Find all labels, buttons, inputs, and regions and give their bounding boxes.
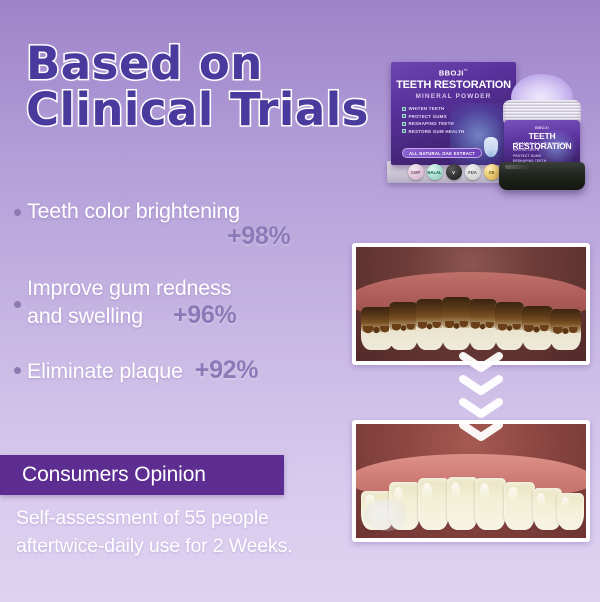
tooth-shine bbox=[422, 483, 431, 501]
consumers-opinion-label: Consumers Opinion bbox=[0, 463, 206, 487]
box-feature-list: ✓ WHITEN TEETH ✓ PROTECT GUMS ✓ RESHAPIN… bbox=[402, 106, 464, 136]
check-icon: ✓ bbox=[402, 107, 406, 111]
before-mouth-image bbox=[356, 247, 586, 361]
benefits-list: Teeth color brightening +98% Improve gum… bbox=[8, 198, 338, 387]
halal-badge-icon: HALAL bbox=[427, 164, 443, 180]
headline-line-1: Based on bbox=[26, 42, 369, 86]
benefit-second-line: and swelling +96% bbox=[27, 301, 338, 330]
tooth bbox=[389, 302, 418, 349]
fda-badge-icon: FDA bbox=[465, 164, 481, 180]
benefit-percent: +96% bbox=[173, 301, 236, 330]
tartar-deposit bbox=[389, 302, 418, 329]
jar-cap bbox=[499, 162, 585, 190]
tooth bbox=[416, 299, 445, 350]
product-image: BBOJI™ TEETH RESTORATION MINERAL POWDER … bbox=[383, 52, 593, 197]
check-icon: ✓ bbox=[402, 122, 406, 126]
tartar-deposit bbox=[522, 306, 553, 331]
teeth-row bbox=[361, 293, 582, 352]
box-feature-label: RESTORE GUM HEALTH bbox=[409, 129, 465, 134]
tooth-shine bbox=[537, 493, 546, 507]
box-brand-name: BBOJI bbox=[439, 69, 464, 78]
jar-feature-label: WHITEN TEETH bbox=[513, 148, 554, 152]
tartar-deposit bbox=[442, 297, 471, 327]
benefit-label-line2: and swelling bbox=[27, 303, 143, 329]
benefit-inline-row: Eliminate plaque +92% bbox=[27, 356, 338, 385]
headline: Based on Clinical Trials bbox=[26, 42, 369, 131]
benefit-item-3: Eliminate plaque +92% bbox=[8, 356, 338, 385]
tartar-deposit bbox=[416, 299, 445, 329]
box-feature-item: ✓ PROTECT GUMS bbox=[402, 114, 464, 119]
advertisement-canvas: Based on Clinical Trials BBOJI™ TEETH RE… bbox=[0, 0, 600, 602]
tartar-deposit bbox=[550, 309, 581, 332]
chevron-down-icon bbox=[458, 375, 504, 397]
bullet-dot-icon bbox=[14, 209, 21, 216]
tooth bbox=[550, 309, 581, 349]
tooth bbox=[469, 299, 498, 350]
bullet-dot-icon bbox=[14, 301, 21, 308]
chevron-down-icon bbox=[458, 352, 504, 374]
benefit-percent: +98% bbox=[227, 222, 290, 250]
trademark-symbol: ™ bbox=[464, 68, 468, 73]
box-feature-item: ✓ RESHAPING TEETH bbox=[402, 121, 464, 126]
jar-label: BBOJI TEETH RESTORATION MINERAL POWDER W… bbox=[504, 120, 580, 166]
bullet-dot-icon bbox=[14, 367, 21, 374]
before-photo bbox=[352, 243, 590, 365]
headline-line-2: Clinical Trials bbox=[26, 88, 369, 132]
gmp-badge-icon: GMP bbox=[408, 164, 424, 180]
chevron-down-icon bbox=[458, 421, 504, 443]
tartar-deposit bbox=[469, 299, 498, 329]
check-icon: ✓ bbox=[402, 114, 406, 118]
footer-disclaimer: Self-assessment of 55 people aftertwice-… bbox=[16, 505, 346, 560]
tooth bbox=[447, 477, 478, 530]
tooth bbox=[418, 478, 449, 530]
tooth bbox=[504, 482, 535, 529]
tooth-shine bbox=[561, 497, 569, 509]
benefit-item-2: Improve gum redness and swelling +96% bbox=[8, 275, 338, 330]
jar-feature-label: PROTECT GUMS bbox=[513, 154, 554, 158]
chevron-down-icon bbox=[458, 398, 504, 420]
tooth-shine bbox=[480, 483, 489, 501]
tartar-deposit bbox=[495, 302, 524, 329]
box-feature-label: PROTECT GUMS bbox=[409, 114, 447, 119]
tooth-shine bbox=[508, 487, 517, 503]
tooth bbox=[475, 478, 506, 530]
transition-arrows bbox=[444, 352, 518, 434]
benefit-label-line1: Improve gum redness bbox=[27, 275, 338, 301]
consumers-opinion-banner: Consumers Opinion bbox=[0, 455, 284, 495]
box-feature-item: ✓ WHITEN TEETH bbox=[402, 106, 464, 111]
footer-line-2: aftertwice-daily use for 2 Weeks. bbox=[16, 533, 346, 561]
benefit-item-1: Teeth color brightening +98% bbox=[8, 198, 338, 251]
tooth bbox=[442, 297, 471, 349]
box-feature-label: WHITEN TEETH bbox=[409, 106, 445, 111]
box-feature-item: ✓ RESTORE GUM HEALTH bbox=[402, 129, 464, 134]
benefit-label: Eliminate plaque bbox=[27, 358, 183, 384]
natural-extract-badge: ALL NATURAL OAK EXTRACT bbox=[402, 148, 482, 158]
benefit-percent-row: +98% bbox=[27, 222, 338, 251]
footer-line-1: Self-assessment of 55 people bbox=[16, 505, 346, 533]
vegan-badge-icon: V bbox=[446, 164, 462, 180]
tooth bbox=[522, 306, 553, 350]
tooth bbox=[495, 302, 524, 349]
jar-brand: BBOJI bbox=[504, 125, 580, 130]
tooth-shine bbox=[451, 482, 460, 500]
tooth bbox=[557, 493, 583, 530]
benefit-label: Teeth color brightening bbox=[27, 198, 338, 224]
product-jar: BBOJI TEETH RESTORATION MINERAL POWDER W… bbox=[495, 74, 587, 192]
box-feature-label: RESHAPING TEETH bbox=[409, 121, 454, 126]
jar-subtitle: MINERAL POWDER bbox=[504, 141, 580, 146]
benefit-percent: +92% bbox=[195, 356, 258, 385]
check-icon: ✓ bbox=[402, 129, 406, 133]
